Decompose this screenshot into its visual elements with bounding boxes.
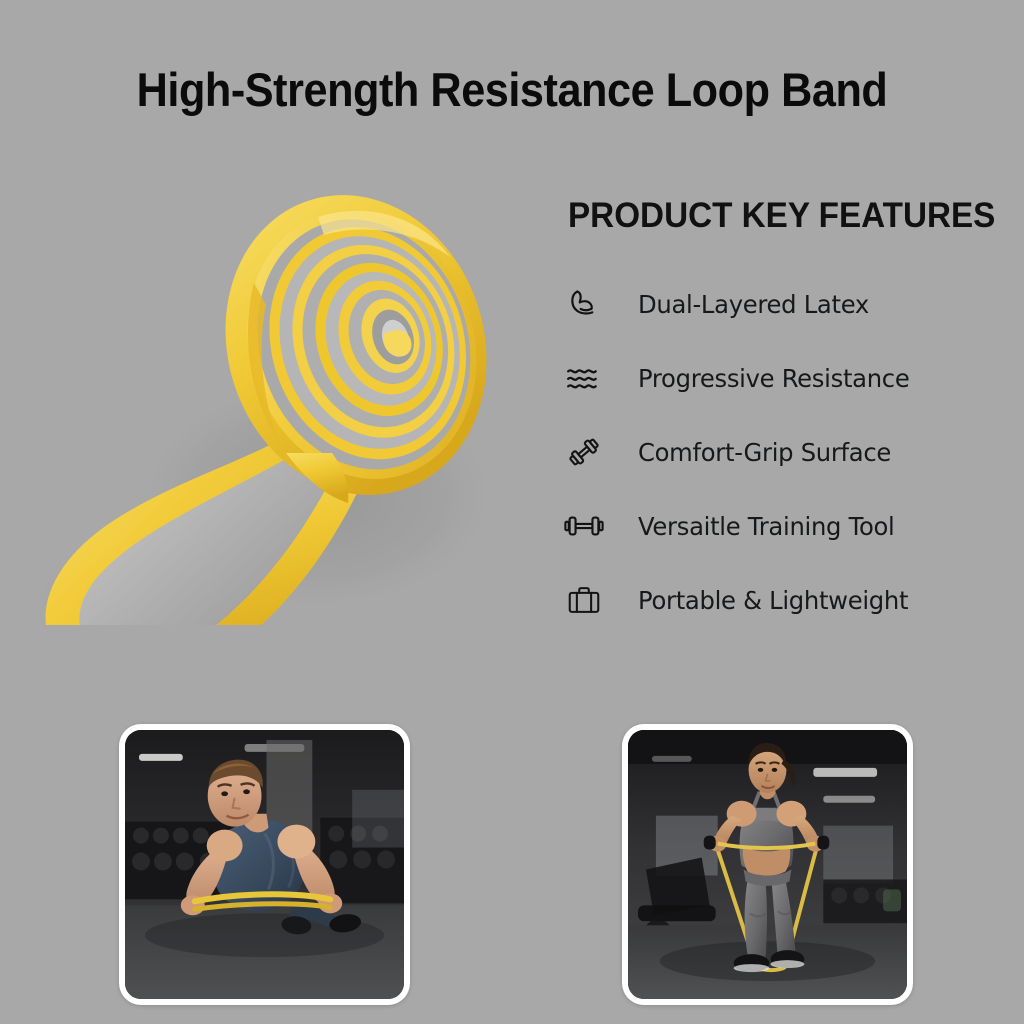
barbell-icon [556,503,612,549]
feature-item-versatile-training-tool: Versaitle Training Tool [556,500,1008,552]
feature-label: Portable & Lightweight [638,586,908,615]
photo-card-standing-row [622,724,913,1005]
feature-item-progressive-resistance: Progressive Resistance [556,352,1008,404]
feature-item-comfort-grip-surface: Comfort-Grip Surface [556,426,1008,478]
briefcase-icon [556,577,612,623]
features-heading: PRODUCT KEY FEATURES [568,196,986,236]
waves-icon [556,355,612,401]
feature-item-dual-layered-latex: Dual-Layered Latex [556,278,1008,330]
product-image [18,165,538,625]
photo-card-push-up [119,724,410,1005]
features-panel: PRODUCT KEY FEATURES Dual-Layered Latex [556,196,1008,648]
photo-standing-band-row [628,730,907,999]
feature-label: Progressive Resistance [638,364,909,393]
feature-label: Comfort-Grip Surface [638,438,891,467]
features-list: Dual-Layered Latex Progressive Resistanc… [556,278,1008,626]
photo-push-up-with-band [125,730,404,999]
feature-item-portable-lightweight: Portable & Lightweight [556,574,1008,626]
tilted-dumbbell-icon [556,429,612,475]
page-title: High-Strength Resistance Loop Band [41,62,983,117]
feature-label: Dual-Layered Latex [638,290,869,319]
flexed-bicep-icon [556,281,612,327]
feature-label: Versaitle Training Tool [638,512,895,541]
